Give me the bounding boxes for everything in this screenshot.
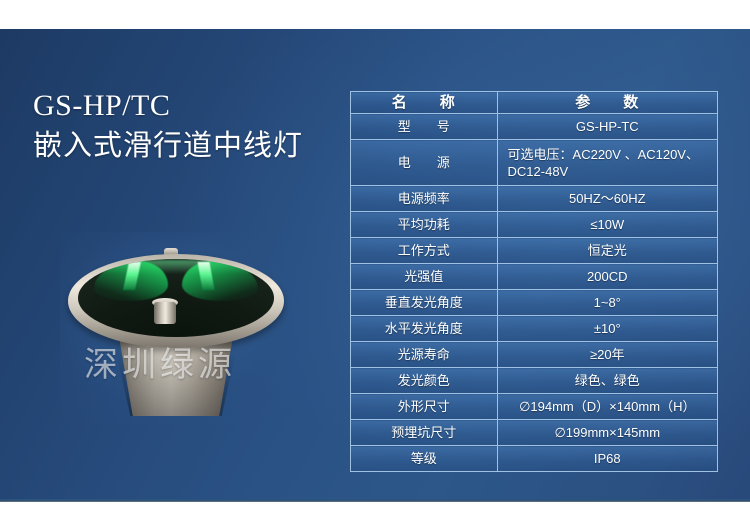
- spec-value-power-consumption: ≤10W: [497, 212, 717, 238]
- spec-value-color: 绿色、绿色: [497, 368, 717, 394]
- table-row: 发光颜色 绿色、绿色: [351, 368, 718, 394]
- spec-name-horizontal-angle: 水平发光角度: [351, 316, 498, 342]
- banner-bottom-edge: [0, 499, 750, 502]
- spec-name-working-mode: 工作方式: [351, 238, 498, 264]
- spec-name-color: 发光颜色: [351, 368, 498, 394]
- spec-value-working-mode: 恒定光: [497, 238, 717, 264]
- header-cell-name: 名 称: [351, 92, 498, 114]
- spec-name-pit-dimensions: 预埋坑尺寸: [351, 420, 498, 446]
- product-spec-page: GS-HP/TC 嵌入式滑行道中线灯 深圳绿源 名 称 参 数 型 号: [0, 0, 750, 529]
- table-row: 型 号 GS-HP-TC: [351, 114, 718, 140]
- light-prismatic-dome: [78, 259, 274, 337]
- spec-name-power-consumption: 平均功耗: [351, 212, 498, 238]
- spec-table-body: 名 称 参 数 型 号 GS-HP-TC 电 源 可选电压：AC220V 、AC…: [351, 92, 718, 472]
- table-row: 等级 IP68: [351, 446, 718, 472]
- spec-name-lifespan: 光源寿命: [351, 342, 498, 368]
- light-housing-shading: [116, 352, 236, 416]
- spec-value-intensity: 200CD: [497, 264, 717, 290]
- table-row: 电源频率 50HZ～60HZ: [351, 186, 718, 212]
- spec-name-dimensions: 外形尺寸: [351, 394, 498, 420]
- spec-value-pit-dimensions: ∅199mm×145mm: [497, 420, 717, 446]
- table-row: 电 源 可选电压：AC220V 、AC120V、DC12-48V: [351, 140, 718, 186]
- product-model-title: GS-HP/TC: [33, 88, 363, 124]
- specification-table: 名 称 参 数 型 号 GS-HP-TC 电 源 可选电压：AC220V 、AC…: [350, 91, 718, 472]
- table-row: 平均功耗 ≤10W: [351, 212, 718, 238]
- spec-value-protection-grade: IP68: [497, 446, 717, 472]
- spec-value-dimensions: ∅194mm（D）×140mm（H）: [497, 394, 717, 420]
- spec-value-horizontal-angle: ±10°: [497, 316, 717, 342]
- product-photo: [60, 232, 300, 424]
- spec-name-vertical-angle: 垂直发光角度: [351, 290, 498, 316]
- spec-name-intensity: 光强值: [351, 264, 498, 290]
- table-row: 外形尺寸 ∅194mm（D）×140mm（H）: [351, 394, 718, 420]
- table-row: 垂直发光角度 1~8°: [351, 290, 718, 316]
- table-row: 光强值 200CD: [351, 264, 718, 290]
- spec-value-model: GS-HP-TC: [497, 114, 717, 140]
- spec-name-model: 型 号: [351, 114, 498, 140]
- spec-value-lifespan: ≥20年: [497, 342, 717, 368]
- table-row: 预埋坑尺寸 ∅199mm×145mm: [351, 420, 718, 446]
- spec-name-power: 电 源: [351, 140, 498, 186]
- title-block: GS-HP/TC 嵌入式滑行道中线灯: [33, 88, 363, 166]
- header-cell-parameter: 参 数: [497, 92, 717, 114]
- table-row: 工作方式 恒定光: [351, 238, 718, 264]
- spec-name-protection-grade: 等级: [351, 446, 498, 472]
- spec-table-header-row: 名 称 参 数: [351, 92, 718, 114]
- spec-value-frequency: 50HZ～60HZ: [497, 186, 717, 212]
- table-row: 水平发光角度 ±10°: [351, 316, 718, 342]
- spec-value-vertical-angle: 1~8°: [497, 290, 717, 316]
- table-row: 光源寿命 ≥20年: [351, 342, 718, 368]
- center-post: [154, 302, 176, 324]
- product-name-title: 嵌入式滑行道中线灯: [33, 126, 363, 166]
- spec-name-frequency: 电源频率: [351, 186, 498, 212]
- spec-value-power: 可选电压：AC220V 、AC120V、DC12-48V: [497, 140, 717, 186]
